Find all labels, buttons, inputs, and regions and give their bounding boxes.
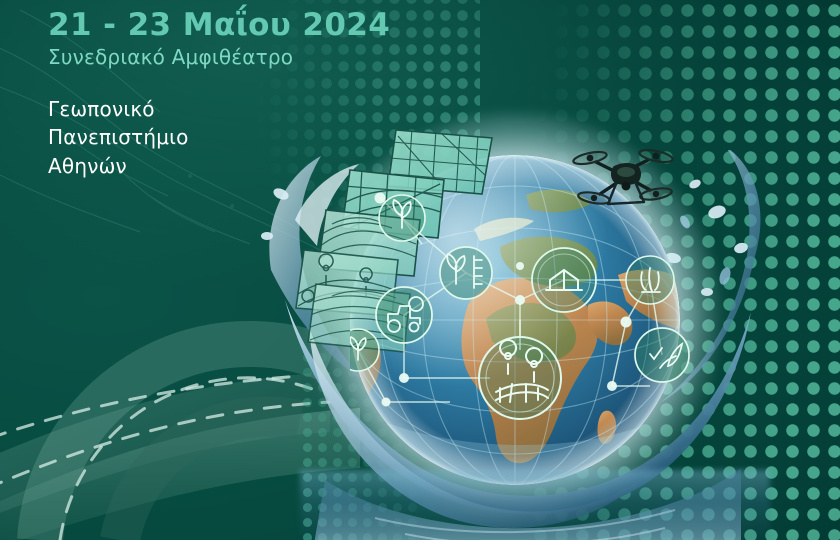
poster-text-block: 21 - 23 Μαΐου 2024 Συνεδριακό Αμφιθέατρο…	[48, 8, 468, 180]
conference-poster: 21 - 23 Μαΐου 2024 Συνεδριακό Αμφιθέατρο…	[0, 0, 840, 540]
organization-line-3: Αθηνών	[48, 152, 468, 180]
water-reflection	[300, 470, 770, 540]
organization-name: Γεωπονικό Πανεπιστήμιο Αθηνών	[48, 95, 468, 180]
organization-line-1: Γεωπονικό	[48, 95, 468, 123]
quadcopter-drone	[556, 132, 688, 222]
event-venue: Συνεδριακό Αμφιθέατρο	[48, 45, 468, 69]
event-dates: 21 - 23 Μαΐου 2024	[48, 8, 468, 43]
organization-line-2: Πανεπιστήμιο	[48, 123, 468, 151]
